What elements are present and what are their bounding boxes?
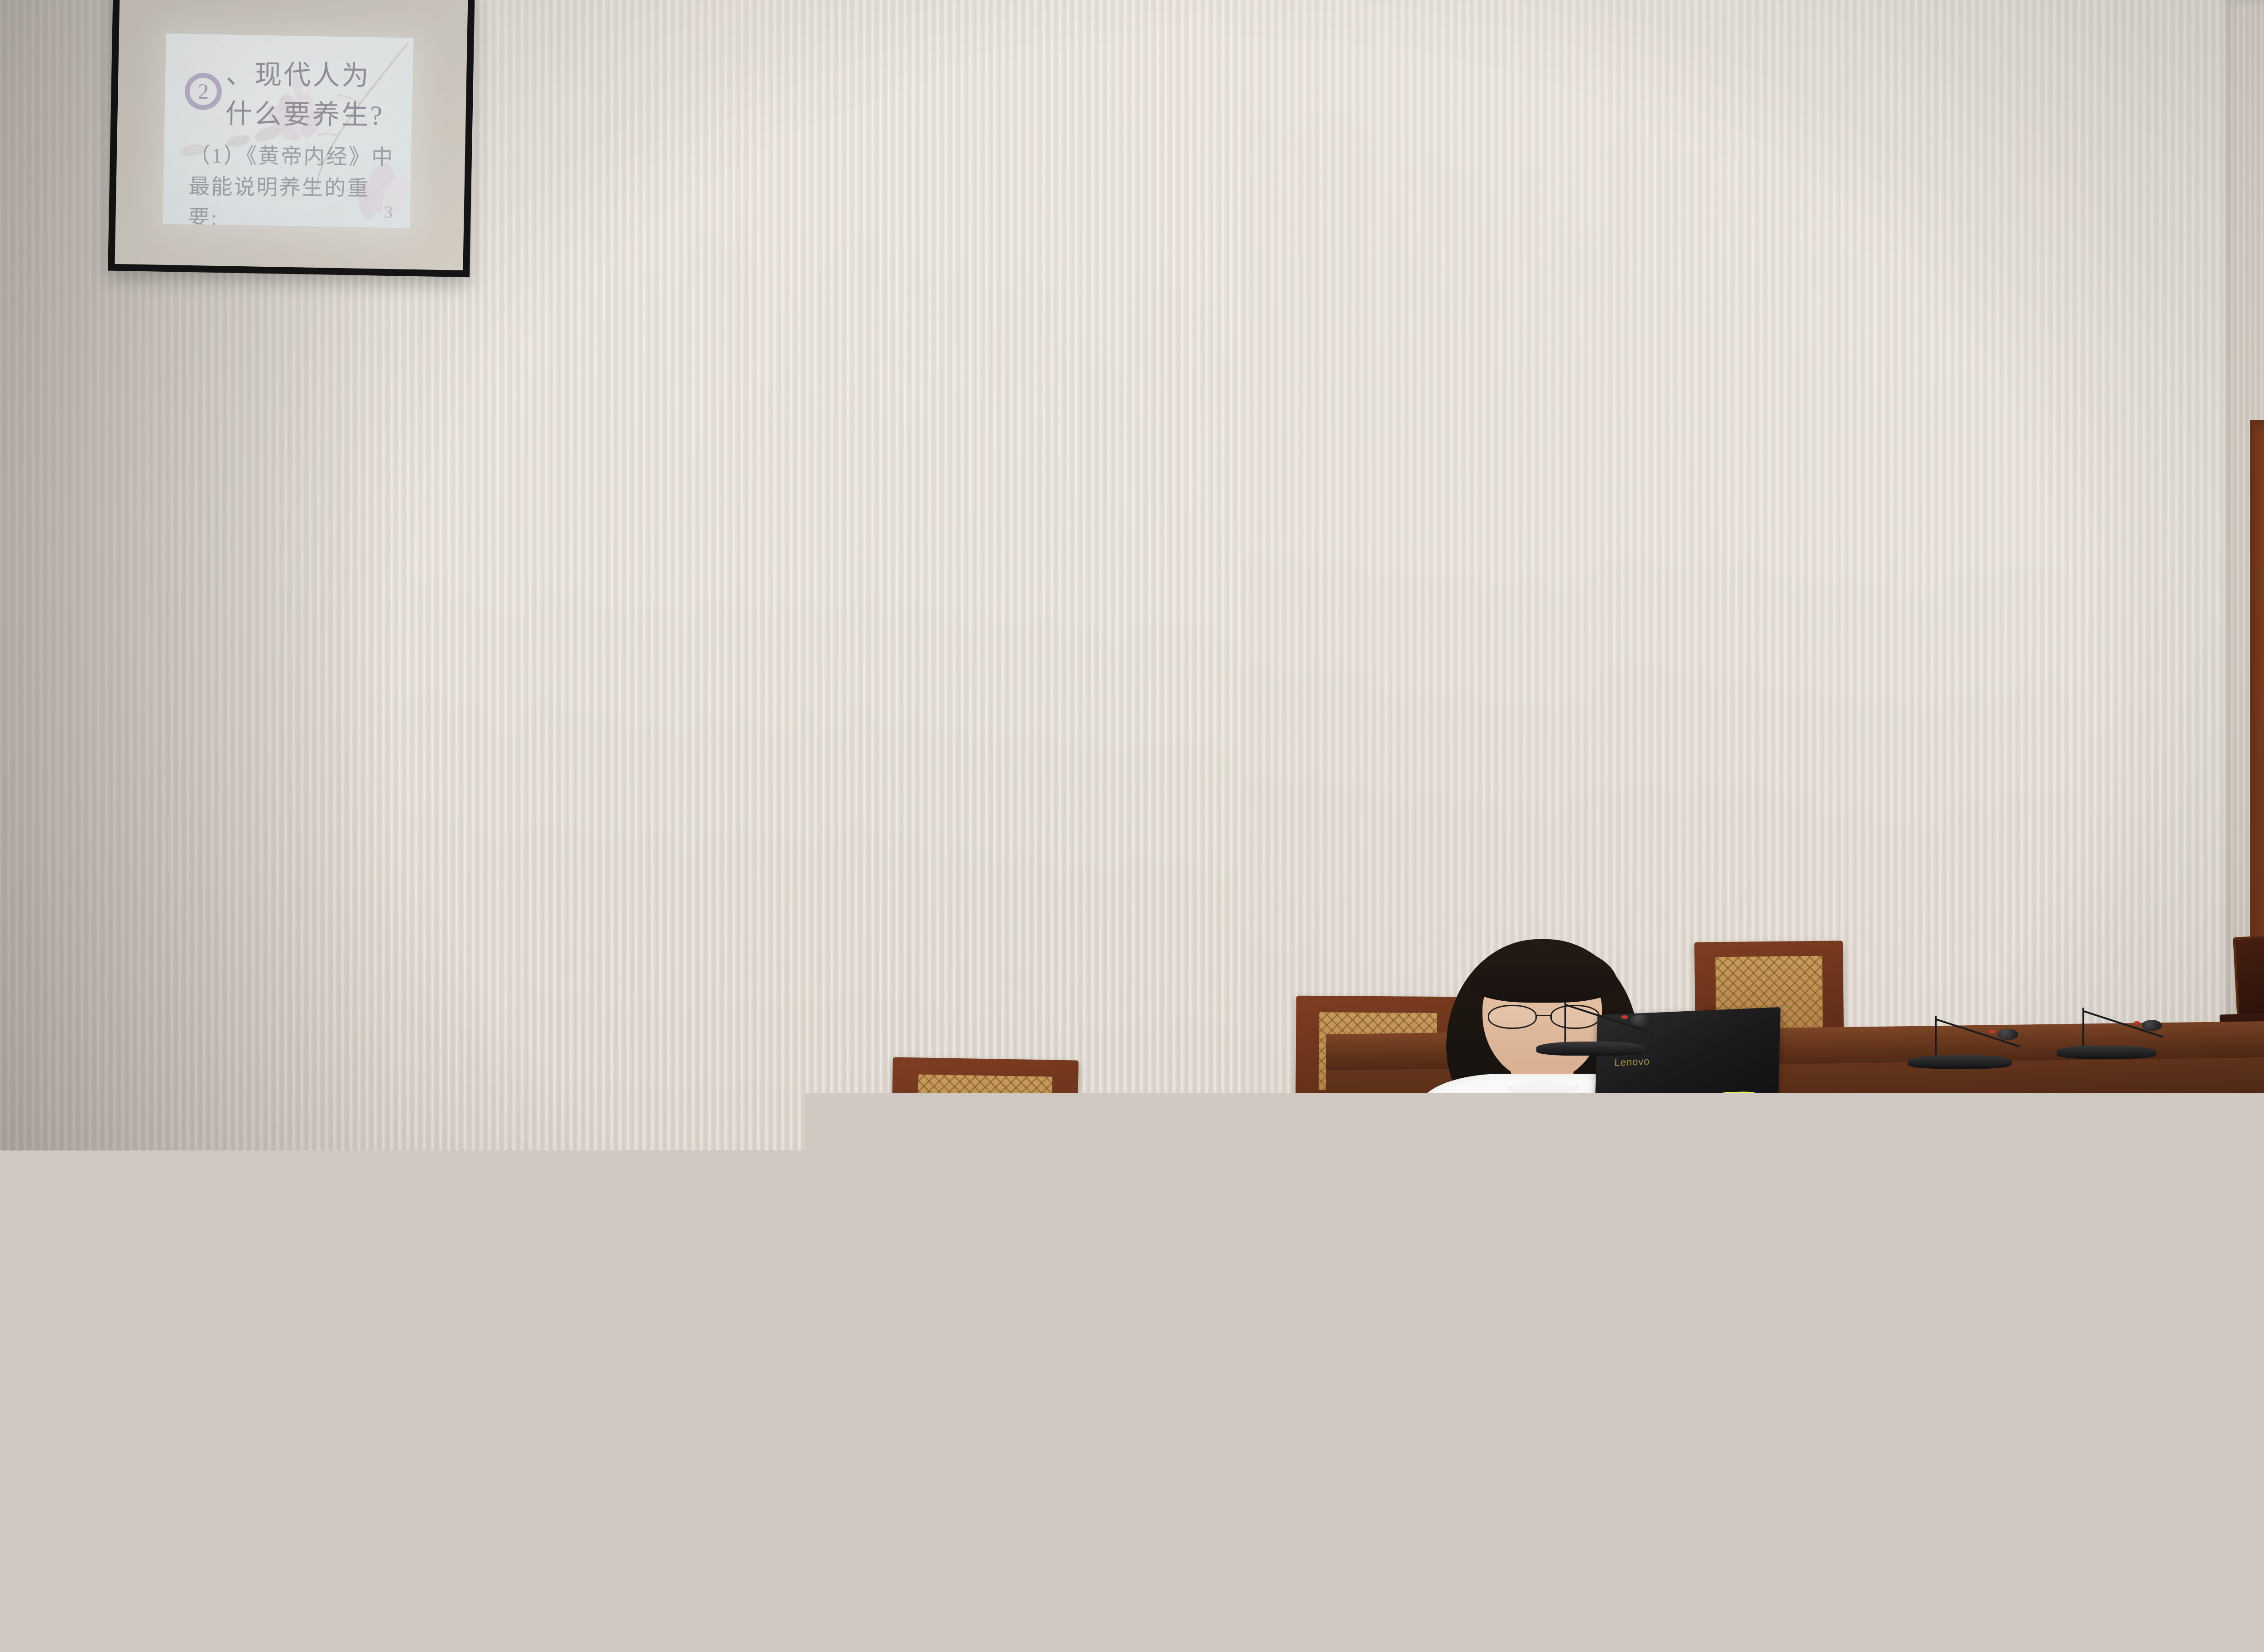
slide-title: 、现代人为什么要养生? [225,53,397,133]
presenter-fringe [1469,944,1617,1002]
audience-member [892,1404,1065,1652]
audience-member [2193,1517,2264,1652]
microphone-right-b[interactable] [2057,1008,2156,1059]
presenter-necklace [1519,1085,1566,1119]
audience-hair-bun [1588,1520,1655,1568]
audience-head [892,1445,1065,1602]
laptop-brand-label: Lenovo [1614,1055,1650,1068]
lecture-hall-photo: 2 、现代人为什么要养生? （1）《黄帝内经》中最能说明养生的重要: （黄帝）乃… [0,0,2264,1652]
microphone-front-left[interactable] [1219,1107,1348,1166]
wall-power-outlet-icon [624,1308,644,1333]
slide-title-row: 2 、现代人为什么要养生? [181,52,397,133]
audience-member [1561,1510,1685,1652]
audience-hair-bun [2024,1477,2096,1541]
side-door[interactable] [2250,420,2264,1279]
yellow-cloth-item [1707,1091,1767,1113]
laptop-keyboard-base[interactable] [1556,1123,1794,1152]
microphone-right-a[interactable] [1908,1016,2012,1069]
side-chair-1[interactable] [2233,933,2264,1022]
slide-subtitle: （1）《黄帝内经》中最能说明养生的重要: [188,138,397,228]
audience-head [1858,1449,2012,1597]
projection-screen: 2 、现代人为什么要养生? （1）《黄帝内经》中最能说明养生的重要: （黄帝）乃… [108,0,475,278]
slide-index-badge: 2 [184,73,222,110]
slide-content: 2 、现代人为什么要养生? （1）《黄帝内经》中最能说明养生的重要: （黄帝）乃… [163,35,412,227]
presentation-slide: 2 、现代人为什么要养生? （1）《黄帝内经》中最能说明养生的重要: （黄帝）乃… [162,34,413,228]
microphone-presenter[interactable] [1536,1001,1645,1056]
slide-page-number: 3 [384,202,393,222]
